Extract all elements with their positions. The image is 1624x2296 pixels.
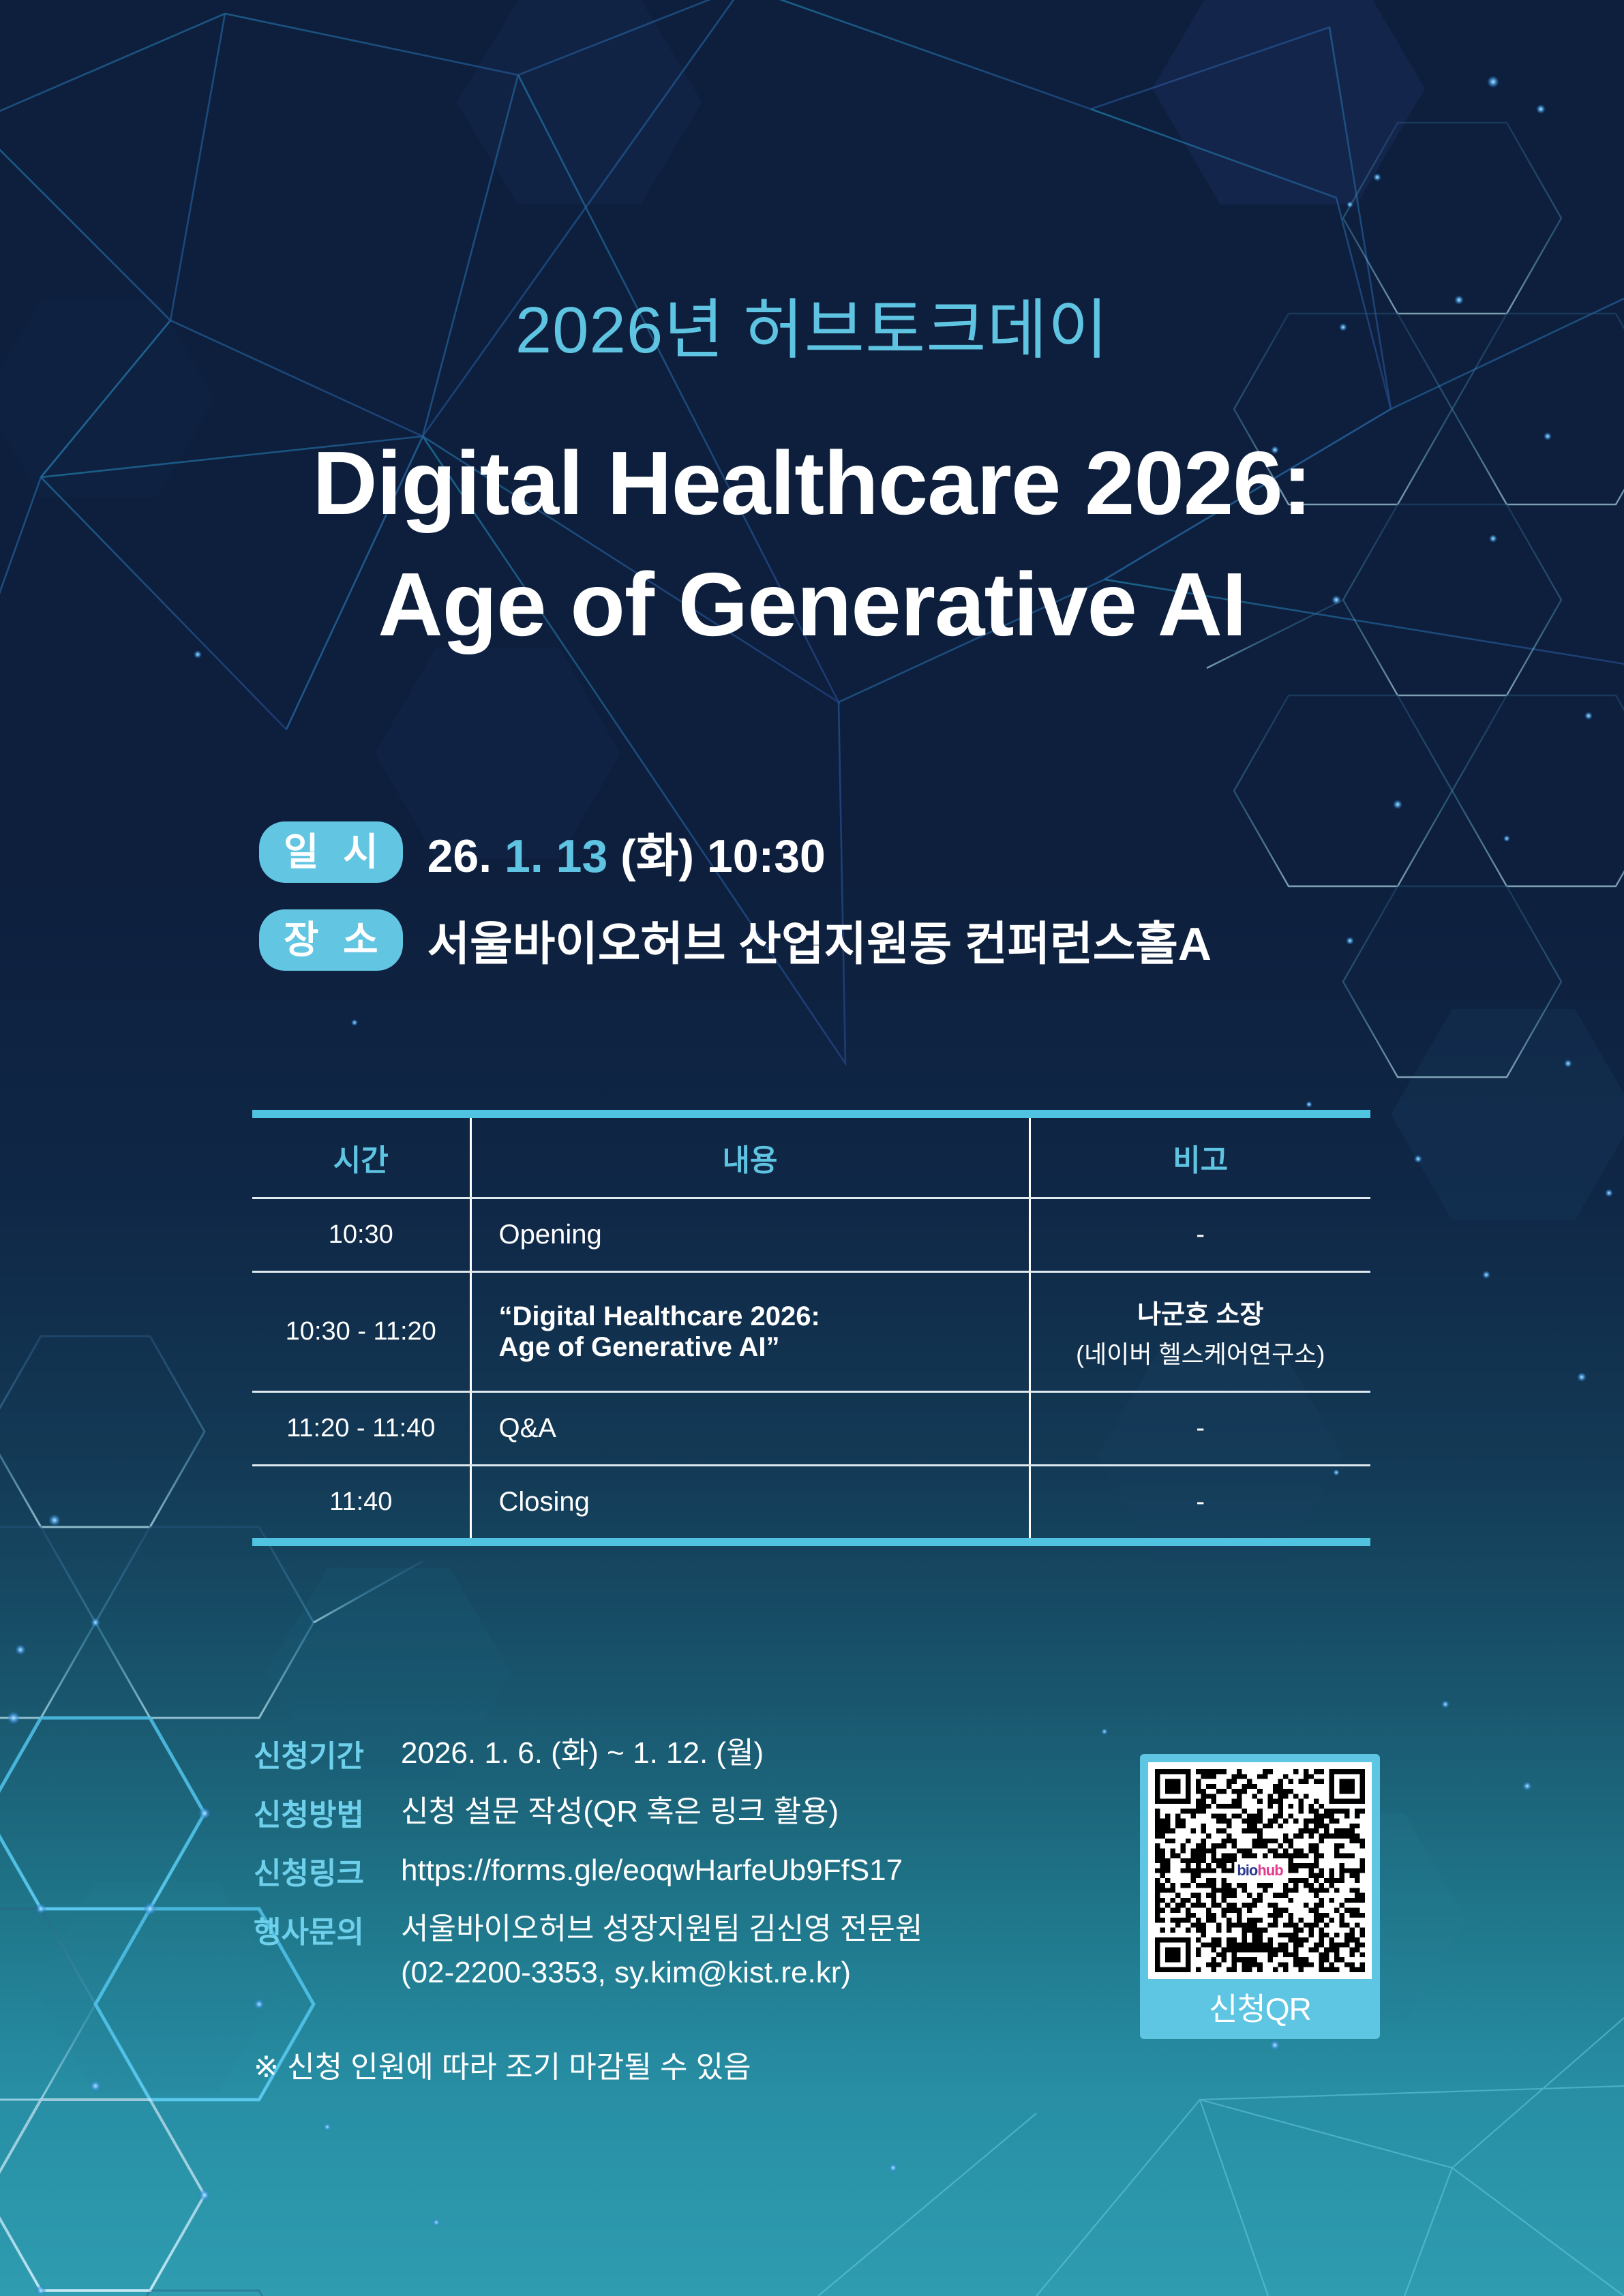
date-suffix: (화) 10:30	[607, 830, 826, 882]
event-info-block: 일 시 26. 1. 13 (화) 10:30 장 소 서울바이오허브 산업지원…	[259, 818, 1212, 994]
schedule-note-main: 나군호 소장	[1137, 1301, 1263, 1329]
schedule-table: 시간 내용 비고 10:30 Opening - 10:30 - 11:20 “…	[252, 1110, 1370, 1546]
schedule-note-sub: (네이버 헬스케어연구소)	[1031, 1335, 1371, 1370]
registration-method-label: 신청방법	[254, 1790, 401, 1834]
registration-period-value: 2026. 1. 6. (화) ~ 1. 12. (월)	[401, 1732, 764, 1775]
registration-info: 신청기간 2026. 1. 6. (화) ~ 1. 12. (월) 신청방법 신…	[254, 1732, 1072, 2010]
schedule-note: -	[1029, 1392, 1370, 1466]
event-poster: 2026년 허브토크데이 Digital Healthcare 2026: Ag…	[0, 0, 1624, 2296]
biohub-logo: biohub	[1234, 1862, 1285, 1879]
logo-bio-text: bio	[1237, 1862, 1257, 1879]
registration-link-value[interactable]: https://forms.gle/eoqwHarfeUb9FfS17	[401, 1849, 903, 1892]
table-row: 10:30 Opening -	[252, 1198, 1370, 1272]
schedule-detail: Opening	[470, 1198, 1029, 1272]
contact-details: (02-2200-3353, sy.kim@kist.re.kr)	[401, 1951, 922, 1995]
schedule-note: -	[1029, 1466, 1370, 1543]
schedule-header-row: 시간 내용 비고	[252, 1114, 1370, 1198]
schedule-header-time: 시간	[252, 1114, 470, 1198]
schedule-time: 10:30 - 11:20	[252, 1272, 470, 1392]
schedule-detail: “Digital Healthcare 2026: Age of Generat…	[470, 1272, 1029, 1392]
contact-person: 서울바이오허브 성장지원팀 김신영 전문원	[401, 1907, 922, 1951]
contact-row: 행사문의 서울바이오허브 성장지원팀 김신영 전문원 (02-2200-3353…	[254, 1907, 1072, 1995]
schedule-time: 11:20 - 11:40	[252, 1392, 470, 1466]
table-row: 11:20 - 11:40 Q&A -	[252, 1392, 1370, 1466]
schedule-header-note: 비고	[1029, 1114, 1370, 1198]
table-row: 10:30 - 11:20 “Digital Healthcare 2026: …	[252, 1272, 1370, 1392]
poster-title-line-2: Age of Generative AI	[0, 544, 1624, 665]
place-badge: 장 소	[259, 909, 403, 971]
schedule-time: 10:30	[252, 1198, 470, 1272]
schedule-detail-line-2: Age of Generative AI”	[499, 1332, 1029, 1363]
event-place-value: 서울바이오허브 산업지원동 컨퍼런스홀A	[427, 906, 1212, 973]
qr-code-image[interactable]: biohub	[1148, 1762, 1372, 1979]
registration-link-row[interactable]: 신청링크 https://forms.gle/eoqwHarfeUb9FfS17	[254, 1849, 1072, 1892]
poster-kicker: 2026년 허브토크데이	[0, 294, 1624, 367]
schedule-note: -	[1029, 1198, 1370, 1272]
qr-caption: 신청QR	[1148, 1979, 1372, 2039]
registration-link-label: 신청링크	[254, 1849, 401, 1892]
registration-method-value: 신청 설문 작성(QR 혹은 링크 활용)	[401, 1790, 839, 1834]
registration-period-label: 신청기간	[254, 1732, 401, 1775]
schedule-note: 나군호 소장 (네이버 헬스케어연구소)	[1029, 1272, 1370, 1392]
schedule-header-detail: 내용	[470, 1114, 1029, 1198]
poster-title-line-1: Digital Healthcare 2026:	[0, 423, 1624, 544]
poster-title: Digital Healthcare 2026: Age of Generati…	[0, 423, 1624, 665]
date-prefix: 26.	[427, 830, 505, 882]
schedule-detail: Closing	[470, 1466, 1029, 1543]
capacity-note: ※ 신청 인원에 따라 조기 마감될 수 있음	[254, 2042, 751, 2086]
registration-method-row: 신청방법 신청 설문 작성(QR 혹은 링크 활용)	[254, 1790, 1072, 1834]
schedule-detail-line-1: “Digital Healthcare 2026:	[499, 1301, 1029, 1332]
registration-qr-card[interactable]: biohub 신청QR	[1140, 1754, 1380, 2039]
contact-value: 서울바이오허브 성장지원팀 김신영 전문원 (02-2200-3353, sy.…	[401, 1907, 922, 1995]
schedule-time: 11:40	[252, 1466, 470, 1543]
date-highlight: 1. 13	[505, 830, 607, 882]
event-date-value: 26. 1. 13 (화) 10:30	[427, 818, 826, 886]
event-place-row: 장 소 서울바이오허브 산업지원동 컨퍼런스홀A	[259, 906, 1212, 973]
table-row: 11:40 Closing -	[252, 1466, 1370, 1543]
schedule-detail: Q&A	[470, 1392, 1029, 1466]
contact-label: 행사문의	[254, 1907, 401, 1951]
event-date-row: 일 시 26. 1. 13 (화) 10:30	[259, 818, 1212, 886]
registration-period-row: 신청기간 2026. 1. 6. (화) ~ 1. 12. (월)	[254, 1732, 1072, 1775]
logo-hub-text: hub	[1257, 1862, 1282, 1879]
date-badge: 일 시	[259, 821, 403, 883]
